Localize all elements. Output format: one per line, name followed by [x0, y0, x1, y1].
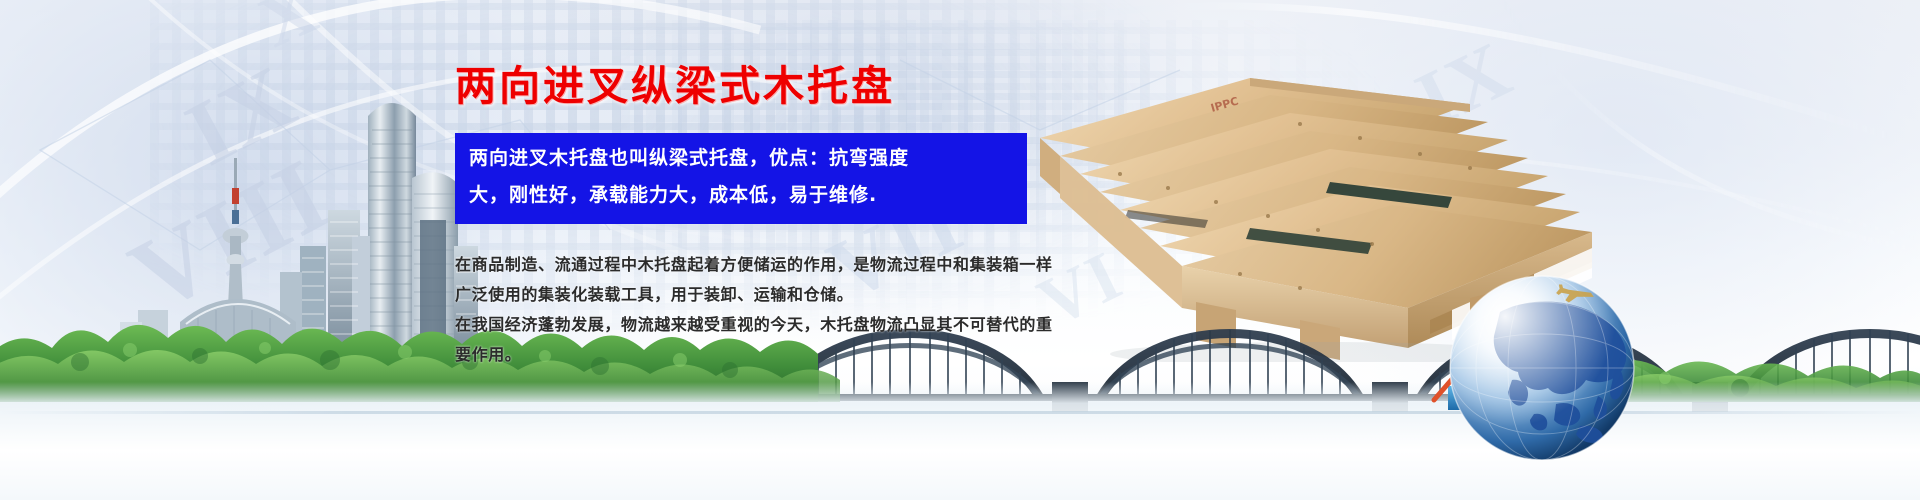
description-paragraph-2: 在我国经济蓬勃发展，物流越来越受重视的今天，木托盘物流凸显其不可替代的重要作用。	[455, 310, 1055, 370]
highlight-line-1: 两向进叉木托盘也叫纵梁式托盘，优点：抗弯强度	[469, 140, 1013, 177]
highlight-callout-box: 两向进叉木托盘也叫纵梁式托盘，优点：抗弯强度 大，刚性好，承载能力大，成本低，易…	[455, 133, 1027, 224]
earth-globe	[1430, 268, 1650, 468]
description-paragraph-1: 在商品制造、流通过程中木托盘起着方便储运的作用，是物流过程中和集装箱一样广泛使用…	[455, 250, 1055, 310]
highlight-line-2: 大，刚性好，承载能力大，成本低，易于维修.	[469, 177, 1013, 214]
promotional-banner: X IX VIII VII IX VI	[0, 0, 1920, 500]
page-title: 两向进叉纵梁式木托盘	[455, 52, 895, 112]
